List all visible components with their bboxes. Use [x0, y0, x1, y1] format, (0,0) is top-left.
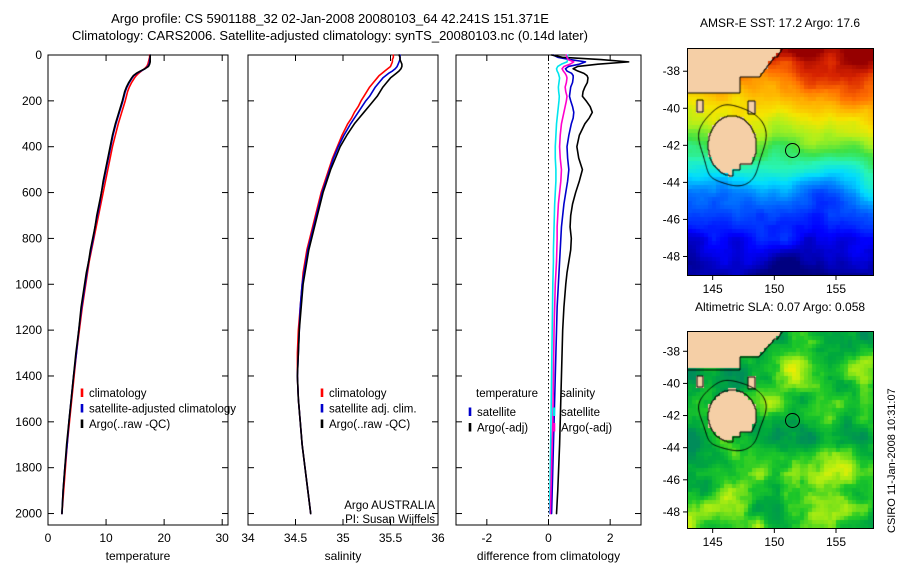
x-axis-label: difference from climatology	[477, 549, 620, 563]
legend-diff-s1-label: Argo(-adj)	[561, 423, 612, 435]
y-tick-label: 400	[22, 140, 42, 154]
temperature-panel: 0200400600800100012001400160018002000010…	[0, 45, 240, 545]
x-tick-label: 34	[241, 531, 255, 545]
legend-temp-1-label: satellite-adjusted climatology	[89, 404, 236, 416]
x-axis-label: salinity	[325, 549, 362, 563]
profile-curve-2	[297, 55, 402, 514]
x-tick-label: 34.5	[284, 531, 308, 545]
map-y-tick-label: -46	[663, 212, 681, 226]
title-line-1: Argo profile: CS 5901188_32 02-Jan-2008 …	[0, 10, 660, 27]
x-tick-label: 0	[545, 531, 552, 545]
plot-frame	[48, 55, 228, 525]
legend-diff-t1-label: Argo(-adj)	[477, 423, 528, 435]
difference-panel: -202difference from climatologytemperatu…	[448, 45, 653, 545]
map-y-tick-label: -40	[663, 101, 681, 115]
difference-plot: -202difference from climatologytemperatu…	[448, 45, 653, 545]
map-y-tick-label: -38	[663, 64, 681, 78]
sst-map-title: AMSR-E SST: 17.2 Argo: 17.6	[660, 16, 900, 30]
y-tick-label: 2000	[15, 507, 42, 521]
map-y-tick-label: -42	[663, 138, 681, 152]
legend-diff-t0-label: satellite	[477, 407, 516, 419]
salinity-plot: 3434.53535.536salinityclimatologysatelli…	[240, 45, 448, 545]
plot-frame	[456, 55, 641, 525]
x-tick-label: 10	[99, 531, 113, 545]
profile-curve-1	[62, 55, 150, 514]
csiro-timestamp: CSIRO 11-Jan-2008 10:31:07	[886, 388, 898, 533]
legend-diff-col1-header: temperature	[476, 388, 538, 400]
x-tick-label: 35.5	[379, 531, 403, 545]
profile-curve-2	[62, 55, 150, 514]
sla-map-title: Altimetric SLA: 0.07 Argo: 0.058	[660, 300, 900, 314]
argo-australia-info: Argo AUSTRALIA PI: Susan Wijffels	[310, 499, 435, 527]
x-axis-label: temperature	[106, 549, 171, 563]
title-line-2: Climatology: CARS2006. Satellite-adjuste…	[0, 27, 660, 44]
argo-pi-label: PI: Susan Wijffels	[310, 513, 435, 527]
map-y-tick-label: -40	[663, 376, 681, 390]
y-tick-label: 200	[22, 94, 42, 108]
sst-map-axes: -38-40-42-44-46-48145150155	[660, 40, 900, 300]
map-x-tick-label: 145	[703, 535, 723, 549]
map-x-tick-label: 150	[764, 535, 784, 549]
profile-curve-1	[552, 55, 629, 514]
legend-temp-2-label: Argo(..raw -QC)	[89, 419, 170, 431]
map-x-tick-label: 150	[764, 282, 784, 296]
map-y-tick-label: -48	[663, 249, 681, 263]
temperature-plot: 0200400600800100012001400160018002000010…	[0, 45, 240, 545]
x-tick-label: 36	[431, 531, 445, 545]
legend-diff-s0-label: satellite	[561, 407, 600, 419]
legend-salt-0-label: climatology	[329, 388, 387, 400]
x-tick-label: 30	[216, 531, 230, 545]
legend-temp-0-label: climatology	[89, 388, 147, 400]
x-tick-label: 20	[157, 531, 171, 545]
y-tick-label: 800	[22, 231, 42, 245]
y-tick-label: 0	[35, 48, 42, 62]
y-tick-label: 1200	[15, 323, 42, 337]
y-tick-label: 600	[22, 186, 42, 200]
plot-frame	[248, 55, 438, 525]
sla-map-axes: -38-40-42-44-46-48145150155	[660, 323, 900, 555]
argo-program-label: Argo AUSTRALIA	[310, 499, 435, 513]
salinity-panel: 3434.53535.536salinityclimatologysatelli…	[240, 45, 448, 545]
y-tick-label: 1000	[15, 277, 42, 291]
map-x-tick-label: 145	[703, 282, 723, 296]
y-tick-label: 1600	[15, 415, 42, 429]
legend-diff-col2-header: salinity	[560, 388, 595, 400]
map-x-tick-label: 155	[826, 282, 846, 296]
x-tick-label: 35	[336, 531, 350, 545]
map-y-tick-label: -48	[663, 505, 681, 519]
map-y-tick-label: -46	[663, 473, 681, 487]
map-y-tick-label: -44	[663, 441, 681, 455]
profile-curve-0	[297, 55, 393, 514]
x-tick-label: -2	[481, 531, 492, 545]
map-y-tick-label: -44	[663, 175, 681, 189]
profile-curve-0	[62, 55, 150, 514]
x-tick-label: 0	[45, 531, 52, 545]
legend-salt-2-label: Argo(..raw -QC)	[329, 419, 410, 431]
map-x-tick-label: 155	[826, 535, 846, 549]
legend-salt-1-label: satellite adj. clim.	[329, 404, 417, 416]
y-tick-label: 1800	[15, 461, 42, 475]
figure-title: Argo profile: CS 5901188_32 02-Jan-2008 …	[0, 10, 660, 44]
x-tick-label: 2	[607, 531, 614, 545]
y-tick-label: 1400	[15, 369, 42, 383]
map-y-tick-label: -38	[663, 344, 681, 358]
map-y-tick-label: -42	[663, 409, 681, 423]
